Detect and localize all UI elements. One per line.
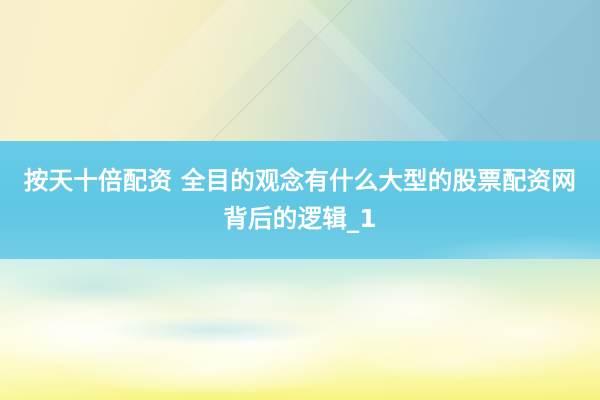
cloud-icon bbox=[430, 301, 600, 359]
cloud-icon bbox=[0, 295, 200, 365]
top-gradient-panel bbox=[0, 0, 600, 141]
article-thumbnail-banner: 按天十倍配资 全目的观念有什么大型的股票配资网 背后的逻辑_1 bbox=[0, 0, 600, 400]
banner-title-line-1: 按天十倍配资 全目的观念有什么大型的股票配资网 bbox=[24, 162, 576, 200]
sky-gradient-panel bbox=[0, 259, 600, 400]
cloud-icon bbox=[120, 307, 380, 369]
cloud-wisp-icon bbox=[0, 267, 180, 307]
cloud-icon bbox=[180, 277, 330, 317]
cloud-wisp-icon bbox=[100, 315, 330, 345]
title-band: 按天十倍配资 全目的观念有什么大型的股票配资网 背后的逻辑_1 bbox=[0, 141, 600, 259]
banner-title-line-2: 背后的逻辑_1 bbox=[223, 200, 376, 238]
sky-warm-tint-overlay bbox=[0, 259, 600, 400]
cloud-icon bbox=[340, 333, 580, 379]
cloud-icon bbox=[60, 341, 360, 393]
cloud-icon bbox=[300, 269, 530, 343]
origami-edge-line bbox=[188, 0, 373, 164]
